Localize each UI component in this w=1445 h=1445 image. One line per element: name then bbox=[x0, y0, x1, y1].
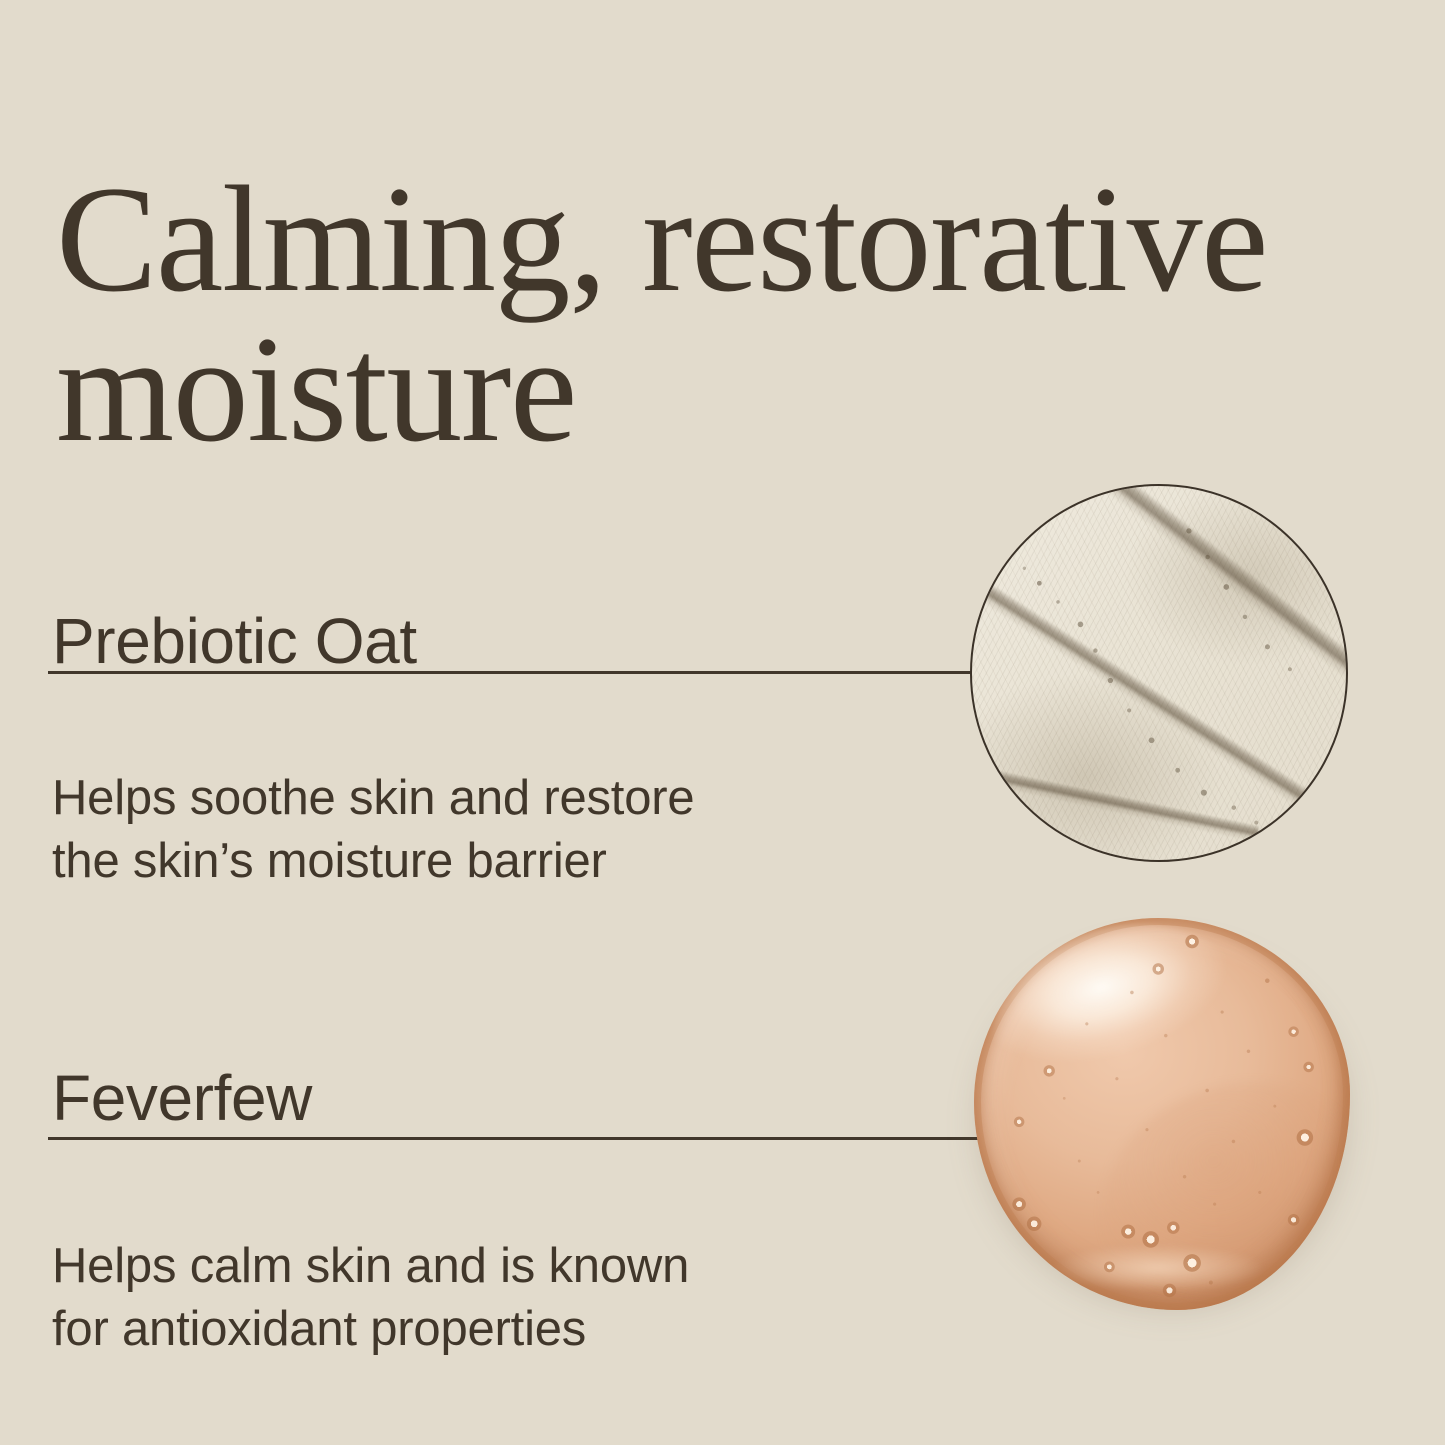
ingredient-description-feverfew: Helps calm skin and is known for antioxi… bbox=[52, 1235, 689, 1360]
gel-body bbox=[974, 918, 1350, 1310]
powder-crumb-specks bbox=[972, 486, 1346, 860]
description-line: the skin’s moisture barrier bbox=[52, 830, 694, 893]
description-line: for antioxidant properties bbox=[52, 1298, 689, 1361]
ingredient-description-prebiotic-oat: Helps soothe skin and restore the skin’s… bbox=[52, 767, 694, 892]
headline-line-1: Calming, restorative bbox=[56, 164, 1376, 314]
headline-line-2: moisture bbox=[56, 314, 1376, 464]
ingredient-title-feverfew: Feverfew bbox=[52, 1066, 312, 1130]
promo-panel: Calming, restorative moisture Prebiotic … bbox=[0, 0, 1445, 1445]
description-line: Helps calm skin and is known bbox=[52, 1235, 689, 1298]
ingredient-title-prebiotic-oat: Prebiotic Oat bbox=[52, 609, 417, 673]
gel-bubbles bbox=[974, 918, 1350, 1310]
description-line: Helps soothe skin and restore bbox=[52, 767, 694, 830]
oat-powder-swatch-image bbox=[970, 484, 1348, 862]
ingredient-divider-feverfew bbox=[48, 1137, 982, 1140]
feverfew-gel-swatch-image bbox=[966, 918, 1360, 1318]
ingredient-divider-prebiotic-oat bbox=[48, 671, 972, 674]
page-title: Calming, restorative moisture bbox=[56, 164, 1376, 465]
